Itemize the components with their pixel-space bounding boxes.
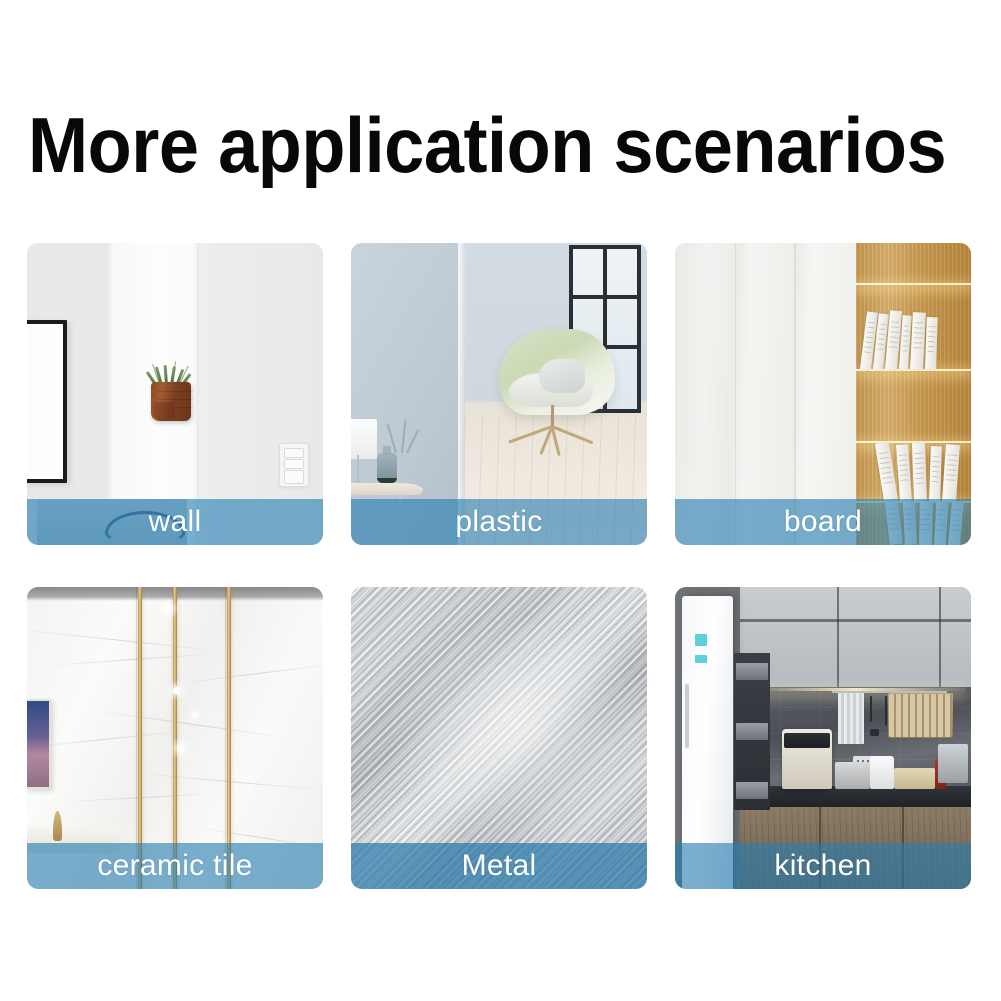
label-band-board: board (675, 499, 971, 545)
scenario-card-wall[interactable]: or (27, 243, 323, 545)
card-label: board (784, 507, 862, 537)
countertop (740, 786, 971, 807)
cooker-lid (784, 733, 830, 749)
cooking-pot (938, 744, 968, 783)
book-row (856, 307, 971, 369)
ceiling-light (165, 605, 172, 612)
glass-vase (377, 453, 397, 483)
picture-frame: or (27, 320, 67, 483)
cutting-board (894, 768, 935, 789)
ceiling-light (193, 713, 197, 717)
card-label: kitchen (774, 851, 871, 881)
multi-cooker (782, 729, 832, 789)
planter-pot (151, 382, 191, 421)
shelf-led (856, 369, 971, 371)
shelf-led (856, 283, 971, 285)
chair-leg (551, 405, 554, 427)
scenario-card-metal[interactable]: Metal (351, 587, 647, 889)
scenario-card-board[interactable]: board (675, 243, 971, 545)
fridge-display (695, 634, 706, 646)
kettle (870, 756, 894, 789)
fridge-display (695, 655, 706, 664)
card-label: wall (149, 507, 202, 537)
label-band-metal: Metal (351, 843, 647, 889)
label-band-wall: wall (27, 499, 323, 545)
toaster (835, 762, 871, 789)
frame-arc-icon (27, 432, 29, 460)
hanging-planter (147, 361, 195, 421)
card-label: ceramic tile (97, 851, 252, 881)
hanging-towel (838, 693, 865, 744)
chair-cushion (539, 359, 585, 393)
built-in-ovens (734, 653, 770, 810)
label-band-ceramic-tile: ceramic tile (27, 843, 323, 889)
fridge-handle (685, 684, 689, 748)
label-band-plastic: plastic (351, 499, 647, 545)
book-row (856, 441, 971, 501)
scenario-card-plastic[interactable]: plastic (351, 243, 647, 545)
framed-picture (27, 699, 51, 789)
card-label: plastic (455, 507, 542, 537)
spice-rack (888, 693, 953, 738)
table-lamp (351, 419, 377, 459)
label-band-kitchen: kitchen (675, 843, 971, 889)
upper-cabinets (740, 587, 971, 687)
plastic-chair (499, 329, 615, 447)
light-switch (279, 443, 309, 487)
page-title: More application scenarios (28, 104, 909, 186)
card-label: Metal (462, 851, 537, 881)
scenario-card-ceramic-tile[interactable]: ceramic tile (27, 587, 323, 889)
cooker-knob (801, 764, 811, 783)
ceiling-light (173, 687, 180, 694)
ceiling-light (177, 745, 184, 752)
scenario-grid: or (27, 243, 976, 889)
scenario-card-kitchen[interactable]: kitchen (675, 587, 971, 889)
